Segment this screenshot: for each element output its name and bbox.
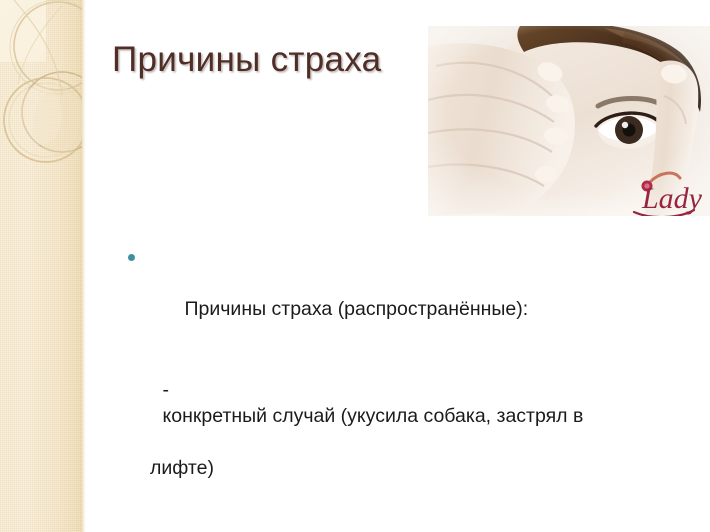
list-item-bullet: Причины страха (распространённые): xyxy=(118,244,678,348)
list-item-continuation: лифте) xyxy=(130,455,678,481)
list-item-dash: - xyxy=(163,379,170,401)
decorative-side-band xyxy=(0,0,82,532)
photo-illustration: Lady xyxy=(428,26,710,216)
bullet-dot-icon xyxy=(128,254,135,261)
presentation-slide: Причины страха xyxy=(0,0,710,532)
band-circles-decoration xyxy=(0,0,82,532)
list-item-text: конкретный случай (укусила собака, застр… xyxy=(163,405,584,427)
band-edge xyxy=(82,0,86,532)
bullet-text: Причины страха (распространённые): xyxy=(185,298,529,320)
page-title: Причины страха xyxy=(112,40,381,80)
list-item: - конкретный случай (укусила собака, зас… xyxy=(118,351,678,532)
slide-photo: Lady xyxy=(428,26,710,216)
content-list: Причины страха (распространённые): - кон… xyxy=(118,244,678,532)
